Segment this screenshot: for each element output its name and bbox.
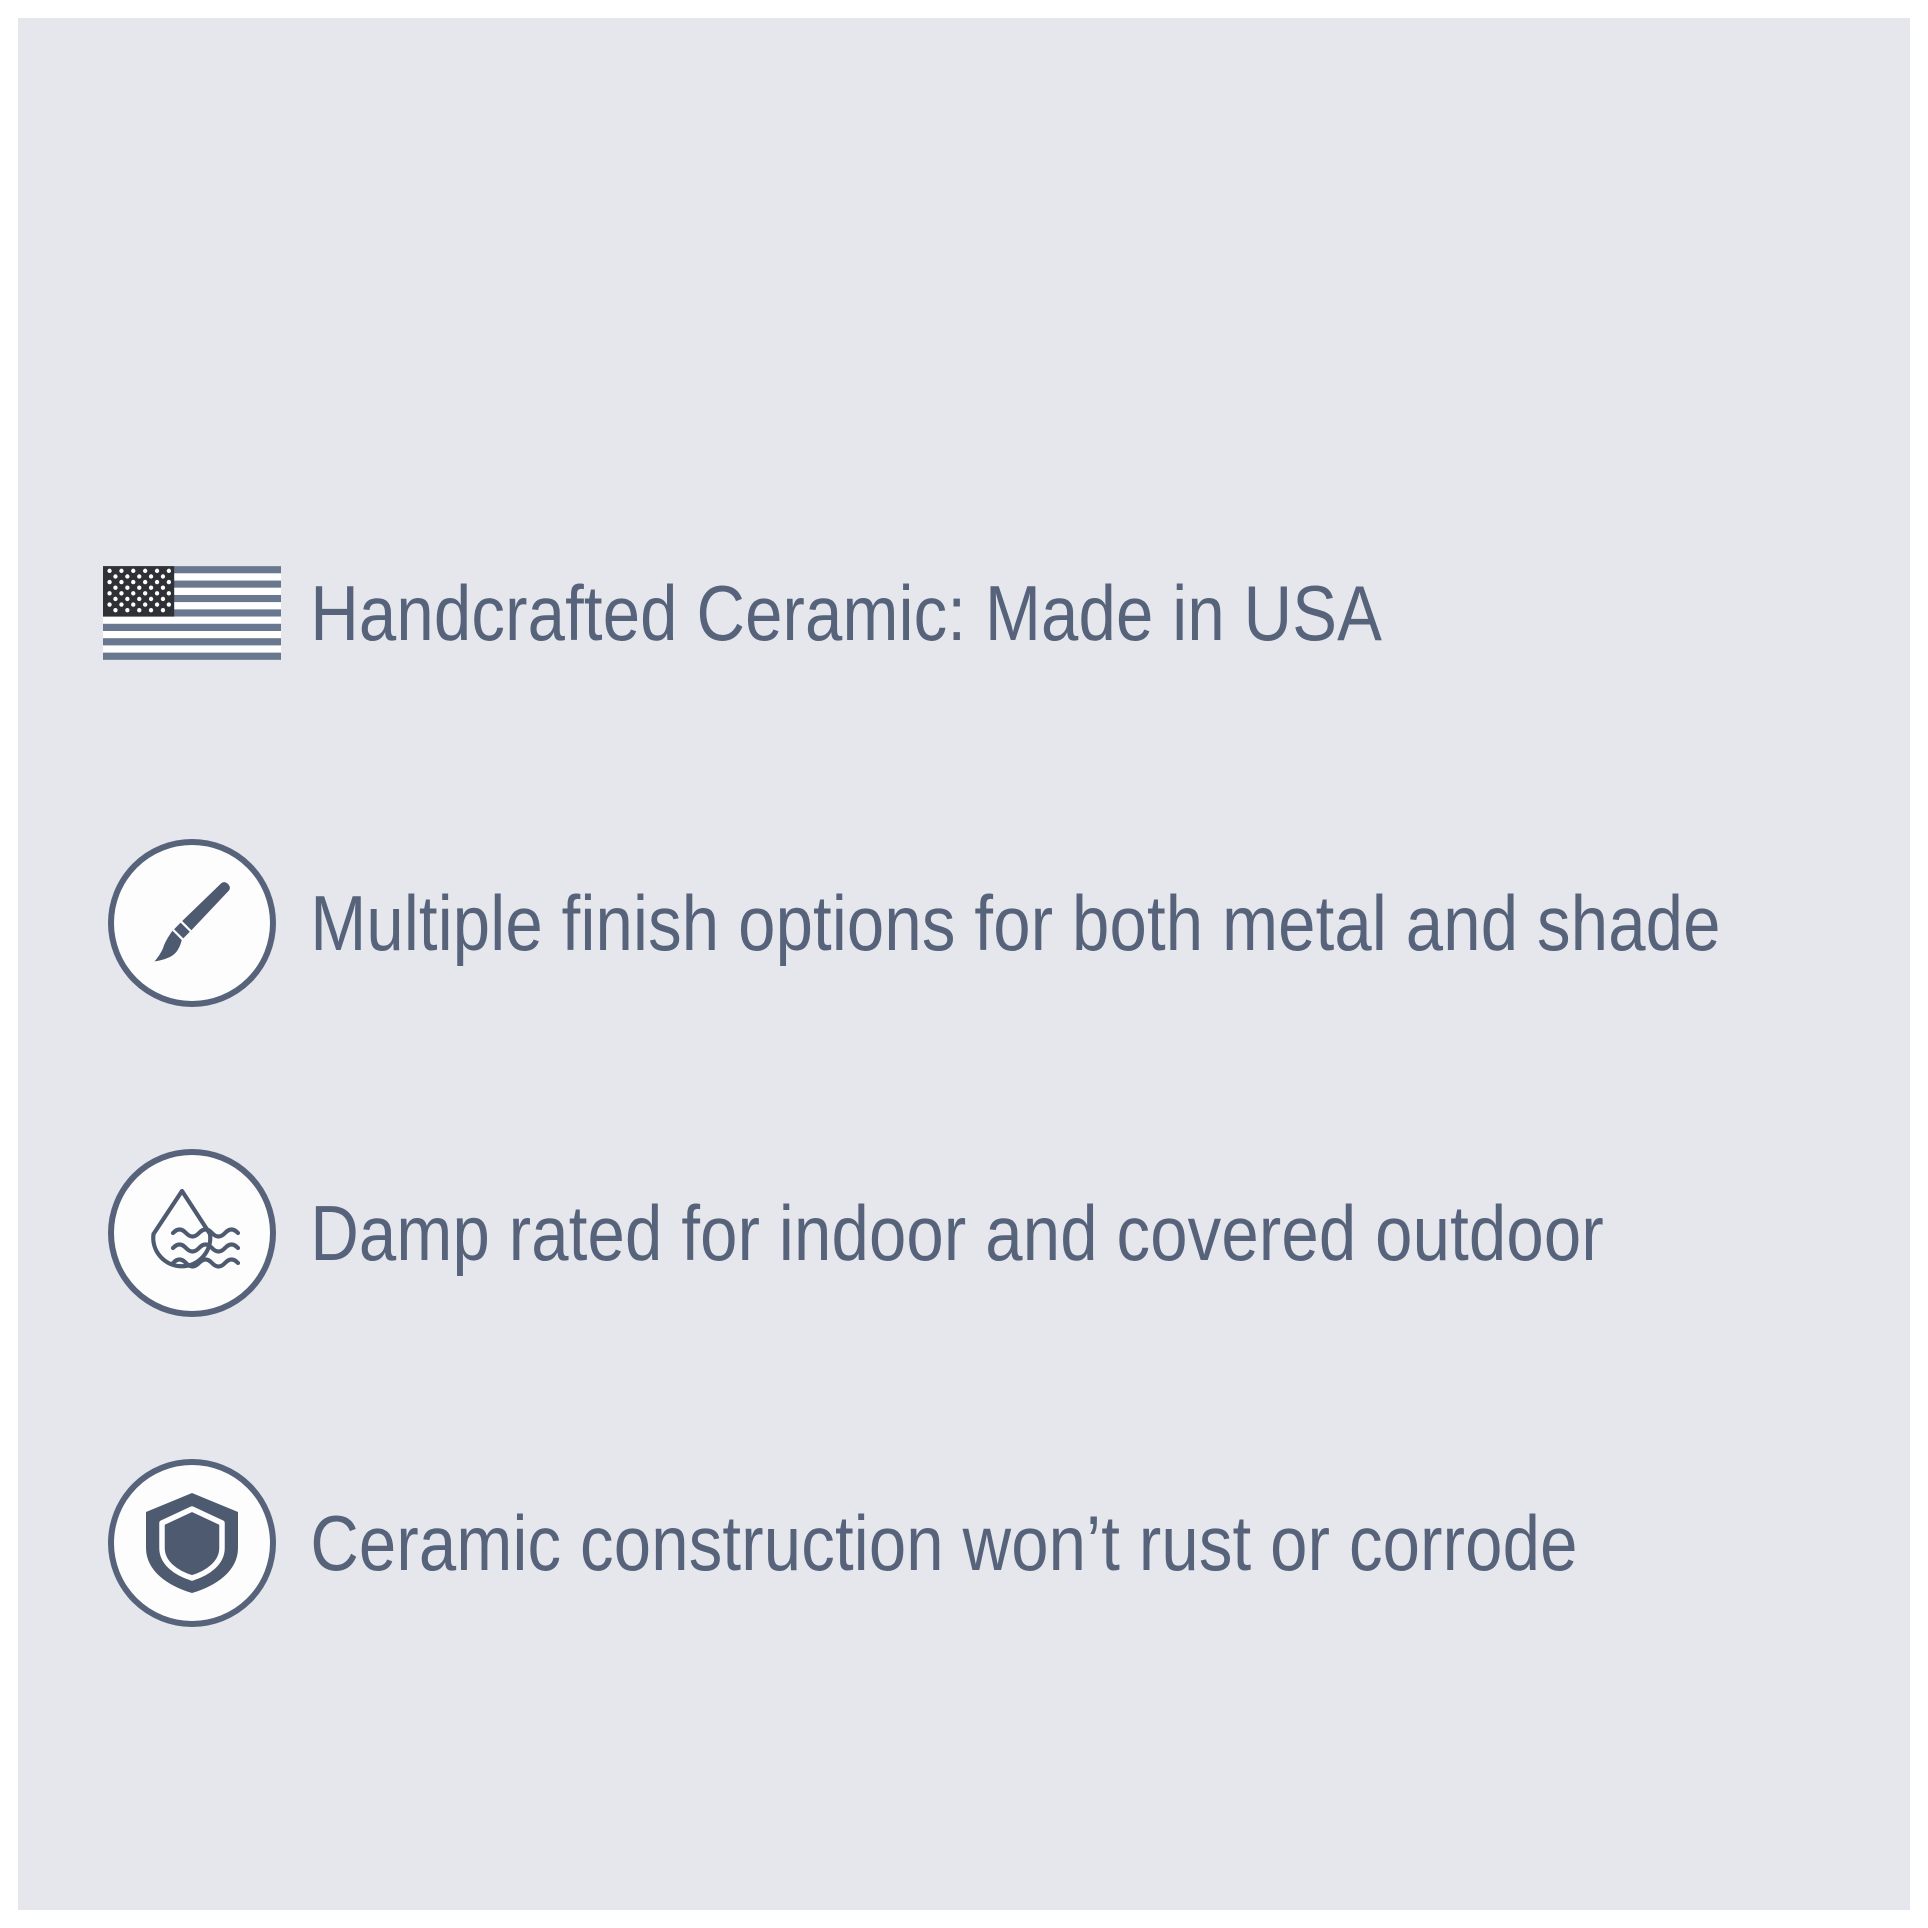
feature-label: Handcrafted Ceramic: Made in USA	[300, 572, 1382, 655]
paintbrush-icon	[142, 873, 242, 973]
shield-icon	[142, 1491, 242, 1595]
feature-row-finish-options: Multiple finish options for both metal a…	[84, 768, 1864, 1078]
feature-row-damp-rated: Damp rated for indoor and covered outdoo…	[84, 1078, 1864, 1388]
usa-flag-icon	[103, 564, 281, 662]
feature-icon-slot	[84, 505, 300, 721]
feature-row-made-in-usa: Handcrafted Ceramic: Made in USA	[84, 458, 1864, 768]
feature-label: Multiple finish options for both metal a…	[300, 882, 1721, 965]
feature-icon-slot	[84, 815, 300, 1031]
feature-row-no-rust: Ceramic construction won’t rust or corro…	[84, 1388, 1864, 1698]
feature-icon-slot	[84, 1435, 300, 1651]
feature-label: Damp rated for indoor and covered outdoo…	[300, 1192, 1604, 1275]
icon-circle	[108, 839, 276, 1007]
icon-circle	[108, 1459, 276, 1627]
feature-list: Handcrafted Ceramic: Made in USA	[84, 458, 1864, 1698]
feature-icon-slot	[84, 1125, 300, 1341]
icon-circle	[108, 1149, 276, 1317]
feature-label: Ceramic construction won’t rust or corro…	[300, 1502, 1578, 1585]
water-drop-waves-icon	[140, 1181, 244, 1285]
feature-panel: Handcrafted Ceramic: Made in USA	[18, 18, 1910, 1910]
